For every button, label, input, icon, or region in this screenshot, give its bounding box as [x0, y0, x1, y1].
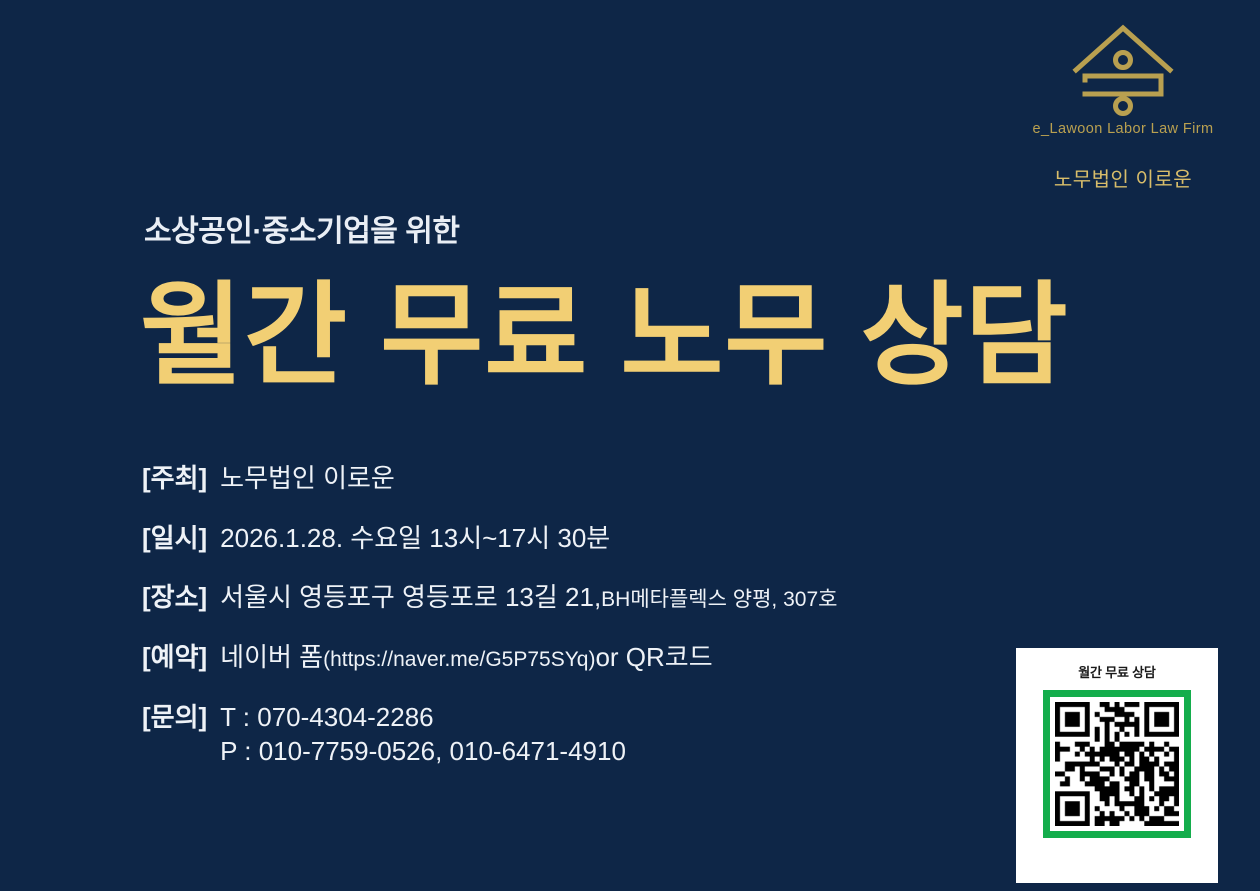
qr-caption: 월간 무료 상담: [1016, 662, 1218, 681]
detail-value-venue-detail: BH메타플렉스 양평, 307호: [601, 587, 837, 613]
detail-row-venue: [장소] 서울시 영등포구 영등포로 13길 21, BH메타플렉스 양평, 3…: [142, 581, 1042, 614]
detail-value-reservation: 네이버 폼: [220, 641, 323, 674]
detail-row-contact: [문의] T : 070-4304-2286 P : 010-7759-0526…: [142, 700, 1042, 769]
detail-label-datetime: [일시]: [142, 522, 207, 555]
detail-label-host: [주최]: [142, 462, 207, 495]
detail-value-datetime: 2026.1.28. 수요일 13시~17시 30분: [220, 522, 610, 555]
contact-phone-mobile: P : 010-7759-0526, 010-6471-4910: [220, 734, 626, 768]
contact-phone-office: T : 070-4304-2286: [220, 700, 626, 734]
qr-code-image[interactable]: [1055, 702, 1179, 826]
contact-number-group: T : 070-4304-2286 P : 010-7759-0526, 010…: [220, 700, 626, 769]
detail-row-reservation: [예약] 네이버 폼 (https://naver.me/G5P75SYq) o…: [142, 641, 1042, 674]
poster-canvas: e_Lawoon Labor Law Firm 노무법인 이로운 소상공인·중소…: [0, 0, 1260, 891]
eyebrow-text: 소상공인·중소기업을 위한: [144, 206, 459, 250]
logo-latin-name: e_Lawoon Labor Law Firm: [1008, 121, 1238, 137]
detail-row-host: [주최] 노무법인 이로운: [142, 462, 1042, 495]
detail-row-datetime: [일시] 2026.1.28. 수요일 13시~17시 30분: [142, 522, 1042, 555]
event-details-list: [주최] 노무법인 이로운 [일시] 2026.1.28. 수요일 13시~17…: [142, 462, 1042, 769]
detail-label-contact: [문의]: [142, 701, 207, 734]
detail-label-reservation: [예약]: [142, 641, 207, 674]
detail-value-host: 노무법인 이로운: [220, 462, 395, 495]
detail-value-venue: 서울시 영등포구 영등포로 13길 21,: [220, 581, 601, 614]
qr-code-card[interactable]: 월간 무료 상담: [1016, 648, 1218, 883]
reservation-url-link[interactable]: (https://naver.me/G5P75SYq): [323, 647, 595, 673]
house-balance-emblem-icon: [1067, 18, 1179, 116]
brand-logo-block: e_Lawoon Labor Law Firm 노무법인 이로운: [1008, 18, 1238, 192]
qr-inner: [1050, 697, 1184, 831]
detail-label-venue: [장소]: [142, 581, 207, 614]
detail-value-reservation-tail: or QR코드: [595, 641, 712, 674]
logo-korean-name: 노무법인 이로운: [1008, 163, 1238, 192]
qr-frame: [1043, 690, 1191, 838]
page-title: 월간 무료 노무 상담: [140, 276, 1069, 397]
